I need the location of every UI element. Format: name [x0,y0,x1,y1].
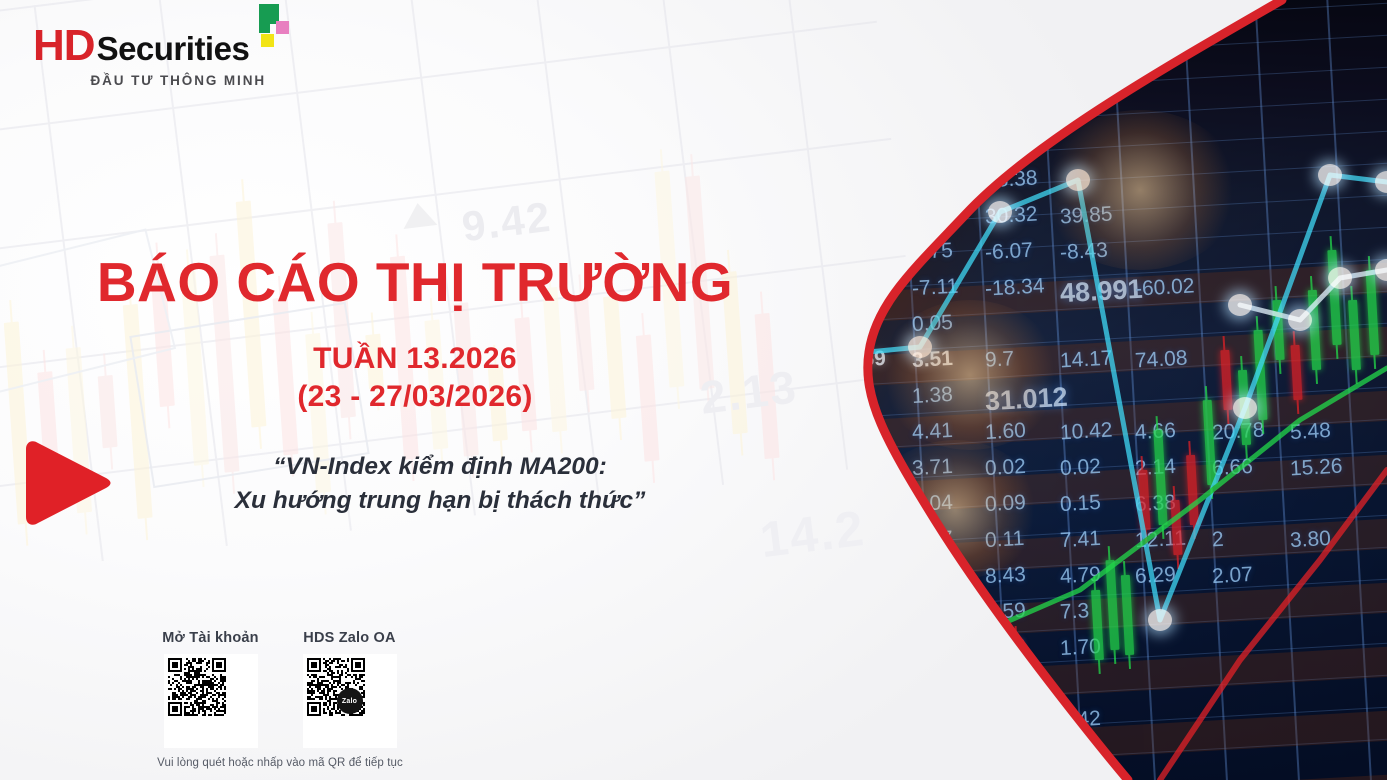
photo-cell: 9 [844,132,857,157]
report-date-range: (23 - 27/03/2026) [0,378,830,416]
qr-code-zalo-oa[interactable]: Zalo [303,654,397,748]
photo-candle [995,690,1007,740]
photo-cell: -2.49 [984,671,1033,698]
qr-box-zalo-oa[interactable]: Zalo [297,654,402,748]
photo-cell: 1.19 [844,671,886,697]
photo-cell: 7.01 [844,635,886,661]
report-quote-line1: “VN-Index kiểm định MA200: [0,450,880,484]
report-cover: 9.42 2.13 14.2 0.593.22.4594.725.6610.87… [0,0,1387,780]
photo-data-point [1228,294,1252,316]
logo-hd-text: HD [33,24,95,68]
watermark-number-1: 9.42 [459,193,554,252]
logo-square-green-tail-icon [259,17,270,33]
photo-cell: 3.2 [844,95,874,121]
photo-cell: 9.73 [911,635,953,661]
zalo-logo-icon: Zalo [337,688,363,714]
photo-cell: .97 [844,203,874,229]
report-quote-line2: Xu hướng trung hạn bị thách thức” [0,484,880,518]
photo-cell: 2.92 [911,563,953,589]
play-button[interactable] [16,437,116,534]
photo-glow-3 [870,440,1040,580]
photo-data-point [988,201,1012,223]
photo-data-point [1288,309,1312,331]
photo-data-point [1148,609,1172,631]
qr-labels: Mở Tài khoản HDS Zalo OA [130,630,430,646]
photo-cell: .49 [844,419,874,445]
photo-cell: 8.13 [911,167,953,193]
photo-cell: .26 [844,527,874,553]
photo-cell: 0.59 [911,59,953,85]
photo-cell: 0.60 [844,563,886,589]
report-week: TUẦN 13.2026 [0,340,830,378]
qr-section: Mở Tài khoản HDS Zalo OA Zalo Vui lòng q… [130,630,430,769]
photo-cell: 0 [844,240,857,265]
logo-square-yellow-icon [261,34,274,47]
qr-images: Zalo [130,654,430,748]
photo-data-point [1318,164,1342,186]
report-period: TUẦN 13.2026 (23 - 27/03/2026) [0,340,830,417]
photo-cell: 0 [844,276,857,301]
photo-cell: -6.9 [844,707,881,733]
photo-cell: .43 [984,707,1014,733]
photo-glow-1 [880,300,1060,450]
photo-candle [977,672,988,717]
logo-tagline: ĐẦU TƯ THÔNG MINH [33,73,266,88]
qr-box-open-account[interactable] [158,654,263,748]
photo-cell: 8.91 [911,599,953,625]
photo-cell: 8.79 [844,743,886,769]
qr-code-open-account[interactable] [164,654,258,748]
photo-glow-2 [1040,110,1240,270]
page-title: BÁO CÁO THỊ TRƯỜNG [0,255,830,310]
logo-square-pink-icon [276,21,289,34]
photo-cell: 4.72 [911,131,953,157]
qr-label-open-account: Mở Tài khoản [158,630,263,646]
logo-wordmark: HD Securities [33,24,266,68]
photo-cell: 5.66 [984,131,1026,157]
photo-cell: 0.8 [844,599,874,625]
photo-candle [1012,640,1024,700]
logo-securities-text: Securities [97,32,250,65]
photo-cell: 6.35 [911,743,953,769]
photo-data-point [1328,267,1352,289]
hds-logo: HD Securities ĐẦU TƯ THÔNG MINH [33,24,266,88]
photo-data-point [1375,171,1387,193]
photo-candle [958,700,970,755]
photo-data-point [1233,397,1257,419]
report-quote: “VN-Index kiểm định MA200: Xu hướng trun… [0,450,880,518]
qr-label-zalo-oa: HDS Zalo OA [297,630,402,646]
photo-cell: .08 [844,311,874,337]
photo-cell: 10.87 [844,167,898,194]
qr-footer-note: Vui lòng quét hoặc nhấp vào mã QR để tiế… [130,757,430,769]
play-icon [16,437,116,529]
photo-cell: -3.17 [911,671,960,698]
photo-cell: 32.002 [911,706,995,742]
photo-cell: 2.45 [911,95,953,121]
photo-data-point [1375,259,1387,281]
watermark-triangle-icon [401,201,438,229]
